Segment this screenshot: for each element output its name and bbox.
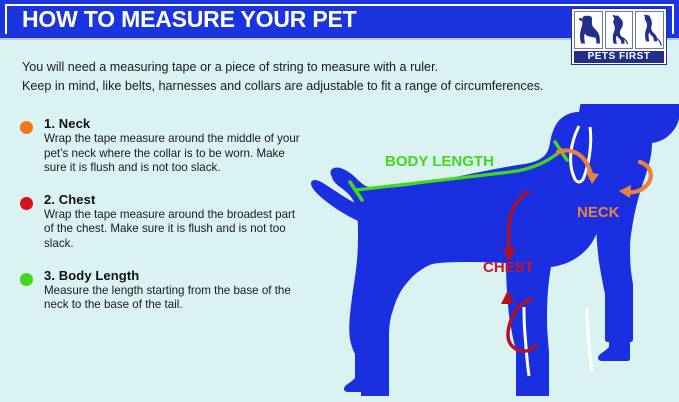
dog-sitting-icon [574,11,603,49]
dog-standing-icon [605,11,634,49]
item-title-chest: 2. Chest [44,192,310,207]
list-item: 1. Neck Wrap the tape measure around the… [20,116,310,176]
item-body-body-length: Measure the length starting from the bas… [44,284,306,313]
intro-line-1: You will need a measuring tape or a piec… [22,58,622,77]
item-body-neck: Wrap the tape measure around the middle … [44,132,306,176]
measurement-list: 1. Neck Wrap the tape measure around the… [20,116,310,325]
page-title: HOW TO MEASURE YOUR PET [22,6,356,33]
label-body-length: BODY LENGTH [385,153,494,170]
dog-measurement-diagram: BODY LENGTH NECK [300,104,679,396]
measurement-guide-page: HOW TO MEASURE YOUR PET [0,0,679,402]
bullet-neck [20,121,33,134]
item-title-neck: 1. Neck [44,116,310,131]
label-chest: CHEST [483,259,534,276]
bullet-chest [20,197,33,210]
list-item: 2. Chest Wrap the tape measure around th… [20,192,310,252]
list-item: 3. Body Length Measure the length starti… [20,268,310,313]
label-neck: NECK [577,204,620,221]
item-title-body-length: 3. Body Length [44,268,310,283]
logo-icon-boxes [574,11,664,49]
intro-text: You will need a measuring tape or a piec… [22,58,622,96]
bullet-body-length [20,273,33,286]
pets-first-logo: PETS FIRST [571,8,667,65]
dog-sitting-alt-icon [635,11,664,49]
intro-line-2: Keep in mind, like belts, harnesses and … [22,77,622,96]
item-body-chest: Wrap the tape measure around the broades… [44,208,306,252]
dog-rear-leg-line [587,308,592,372]
